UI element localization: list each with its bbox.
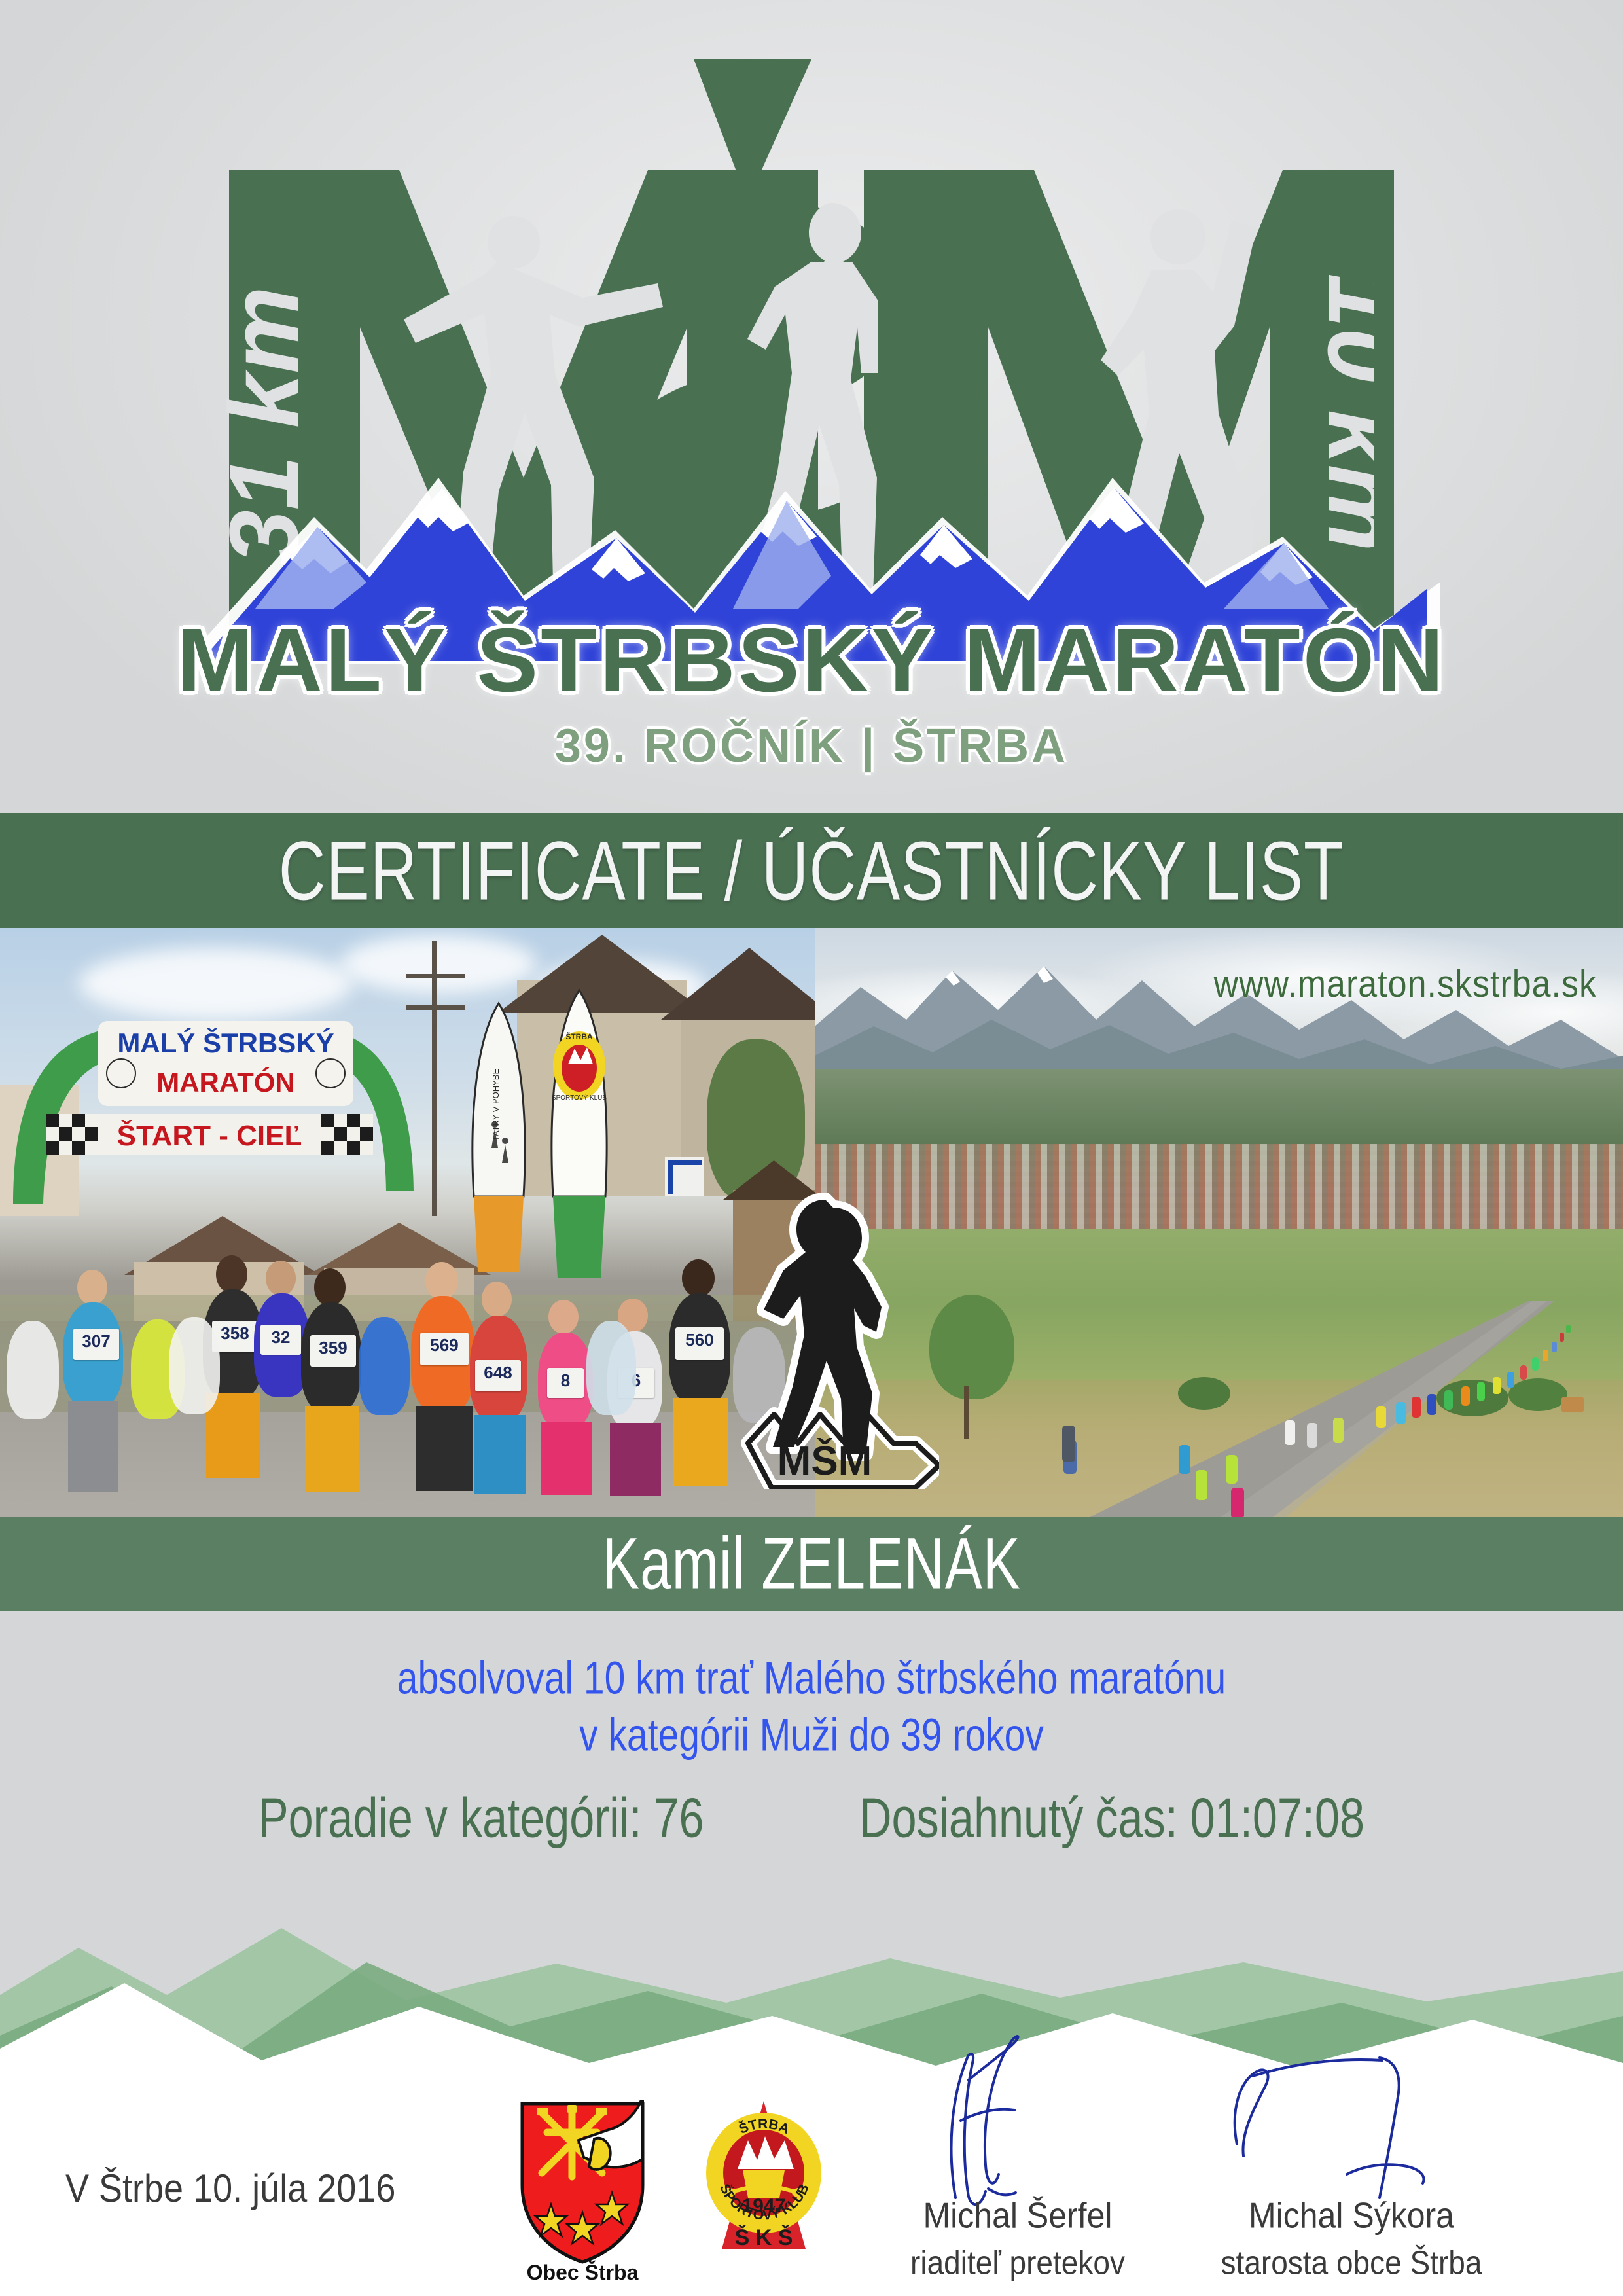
- start-arch: MALÝ ŠTRBSKÝ MARATÓN: [7, 995, 425, 1211]
- badge-text: MŠM: [777, 1439, 872, 1484]
- bib-number: 569: [420, 1333, 469, 1365]
- bib-number: 32: [260, 1325, 301, 1355]
- distance-left-text: 31 km: [209, 286, 319, 564]
- bib-number: 560: [675, 1327, 724, 1360]
- msm-runner-badge: MŠM: [730, 1181, 939, 1489]
- svg-text:31 km: 31 km: [209, 286, 319, 564]
- svg-text:10 km: 10 km: [1308, 273, 1418, 551]
- obec-strba-emblem: Obec Štrba: [510, 2100, 654, 2283]
- logo-title-main: MALÝ ŠTRBSKÝ MARATÓN: [0, 609, 1623, 713]
- bib-number: 359: [310, 1335, 356, 1367]
- results-block: Poradie v kategórii: 76 Dosiahnutý čas: …: [41, 1787, 1582, 1850]
- svg-text:MARATÓN: MARATÓN: [156, 1066, 295, 1098]
- svg-text:TATRY V POHYBE: TATRY V POHYBE: [491, 1069, 501, 1141]
- signature-block-director: Michal Šerfel riaditeľ pretekov: [877, 2119, 1158, 2280]
- svg-text:ŠPORTOVÝ KLUB: ŠPORTOVÝ KLUB: [552, 1093, 607, 1102]
- flag-sks: ŠTRBA ŠPORTOVÝ KLUB: [543, 987, 615, 1282]
- participant-name-banner: Kamil ZELENÁK: [0, 1517, 1623, 1611]
- certificate-banner-title: CERTIFICATE / ÚČASTNÍCKY LIST: [279, 822, 1344, 919]
- certificate-body: absolvoval 10 km trať Malého štrbského m…: [0, 1611, 1623, 1893]
- emblem-year: 1947: [742, 2195, 786, 2217]
- website-url: www.maraton.skstrba.sk: [1214, 962, 1597, 1006]
- tree: [929, 1295, 1014, 1399]
- bib-number: 358: [212, 1321, 258, 1352]
- certificate-footer: V Štrbe 10. júla 2016: [0, 2080, 1623, 2296]
- participant-name: Kamil ZELENÁK: [602, 1522, 1021, 1606]
- signature-role: riaditeľ pretekov: [877, 2243, 1158, 2282]
- photo-start-line: MALÝ ŠTRBSKÝ MARATÓN: [0, 928, 815, 1517]
- bib-number: 648: [475, 1360, 521, 1391]
- sks-club-emblem: ŠTRBA ŠPORTOVÝ KLUB 1947 Š K Š: [690, 2093, 838, 2283]
- description-line-1: absolvoval 10 km trať Malého štrbského m…: [41, 1649, 1582, 1706]
- issue-date: V Štrbe 10. júla 2016: [65, 2166, 395, 2211]
- crosswalk-sign: [665, 1157, 704, 1196]
- logo-subtitle: 39. ROČNÍK | ŠTRBA: [0, 719, 1623, 773]
- certificate-page: 31 km 10 km: [0, 0, 1623, 2296]
- description-block: absolvoval 10 km trať Malého štrbského m…: [41, 1649, 1582, 1763]
- svg-text:ŠTRBA: ŠTRBA: [565, 1031, 593, 1041]
- distance-right-text: 10 km: [1308, 273, 1418, 551]
- signature-role: starosta obce Štrba: [1211, 2243, 1492, 2282]
- bib-number: 307: [73, 1329, 119, 1360]
- signature-block-mayor: Michal Sýkora starosta obce Štrba: [1211, 2119, 1492, 2280]
- emblem-initials: Š K Š: [735, 2225, 793, 2250]
- bib-number: 8: [547, 1368, 584, 1398]
- certificate-banner: CERTIFICATE / ÚČASTNÍCKY LIST: [0, 813, 1623, 928]
- emblem-caption: Obec Štrba: [527, 2261, 639, 2283]
- svg-text:ŠTART - CIEĽ: ŠTART - CIEĽ: [117, 1119, 302, 1152]
- time-value: Dosiahnutý čas: 01:07:08: [859, 1787, 1364, 1850]
- logo-title: MALÝ ŠTRBSKÝ MARATÓN 39. ROČNÍK | ŠTRBA: [0, 609, 1623, 773]
- logo-header: 31 km 10 km: [0, 0, 1623, 813]
- flag-tatry: TATRY V POHYBE: [466, 1000, 531, 1275]
- description-line-2: v kategórii Muži do 39 rokov: [41, 1706, 1582, 1763]
- rank-value: Poradie v kategórii: 76: [259, 1787, 704, 1850]
- signature-name: Michal Šerfel: [877, 2195, 1158, 2236]
- svg-text:MALÝ ŠTRBSKÝ: MALÝ ŠTRBSKÝ: [117, 1027, 334, 1058]
- signature-name: Michal Sýkora: [1211, 2195, 1492, 2236]
